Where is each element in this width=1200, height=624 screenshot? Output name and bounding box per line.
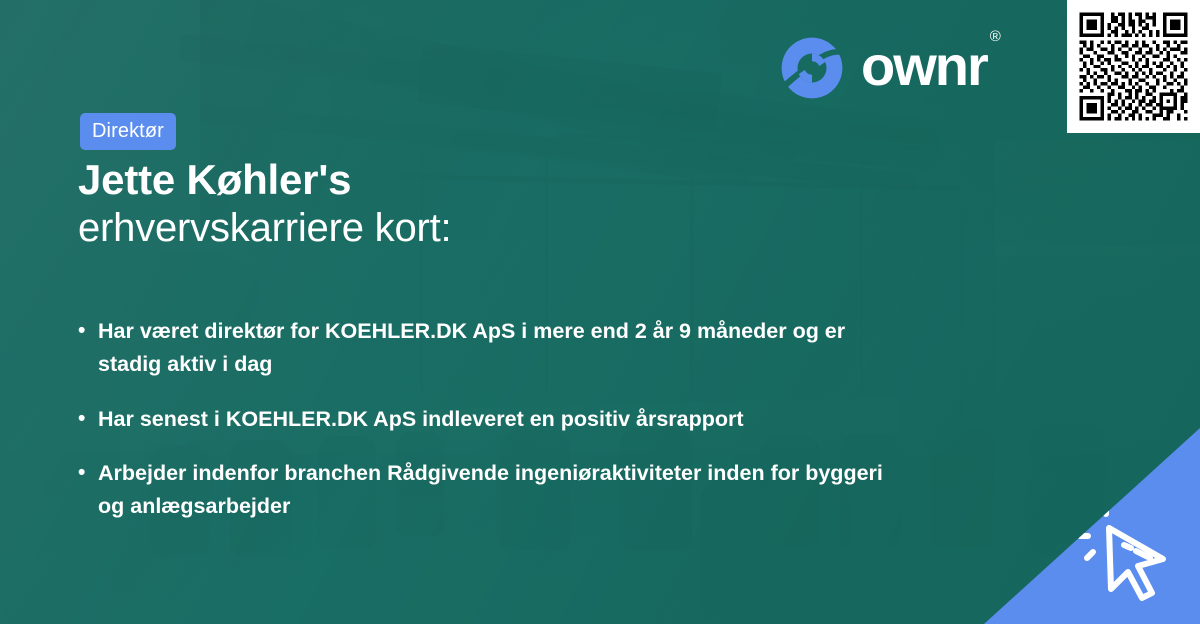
qr-code-panel[interactable] bbox=[1067, 0, 1200, 133]
list-item-text: Har senest i KOEHLER.DK ApS indleveret e… bbox=[98, 403, 888, 436]
career-highlights-list: • Har været direktør for KOEHLER.DK ApS … bbox=[78, 315, 978, 524]
corner-accent-wedge bbox=[984, 428, 1200, 624]
list-item-text: Har været direktør for KOEHLER.DK ApS i … bbox=[98, 315, 888, 382]
list-item-text: Arbejder indenfor branchen Rådgivende in… bbox=[98, 457, 888, 524]
list-item: • Har været direktør for KOEHLER.DK ApS … bbox=[78, 315, 978, 382]
bullet-dot-icon: • bbox=[78, 457, 98, 490]
list-item: • Arbejder indenfor branchen Rådgivende … bbox=[78, 457, 978, 524]
role-badge: Direktør bbox=[80, 113, 176, 150]
card-content: Direktør Jette Køhler's erhvervskarriere… bbox=[0, 0, 1200, 624]
click-cursor-icon bbox=[1068, 496, 1188, 616]
headline-subtitle: erhvervskarriere kort: bbox=[78, 205, 798, 251]
headline-block: Jette Køhler's erhvervskarriere kort: bbox=[78, 156, 798, 251]
ownr-wordmark-text: ownr bbox=[861, 34, 987, 97]
person-name: Jette Køhler's bbox=[78, 156, 798, 203]
ownr-logo: ownr® bbox=[779, 34, 996, 102]
qr-code[interactable] bbox=[1076, 9, 1191, 124]
bullet-dot-icon: • bbox=[78, 403, 98, 436]
ownr-wordmark: ownr® bbox=[861, 38, 996, 94]
list-item: • Har senest i KOEHLER.DK ApS indleveret… bbox=[78, 403, 978, 436]
registered-trademark-icon: ® bbox=[990, 28, 999, 45]
bullet-dot-icon: • bbox=[78, 315, 98, 348]
ownr-circle-swirl-mark bbox=[779, 35, 845, 101]
